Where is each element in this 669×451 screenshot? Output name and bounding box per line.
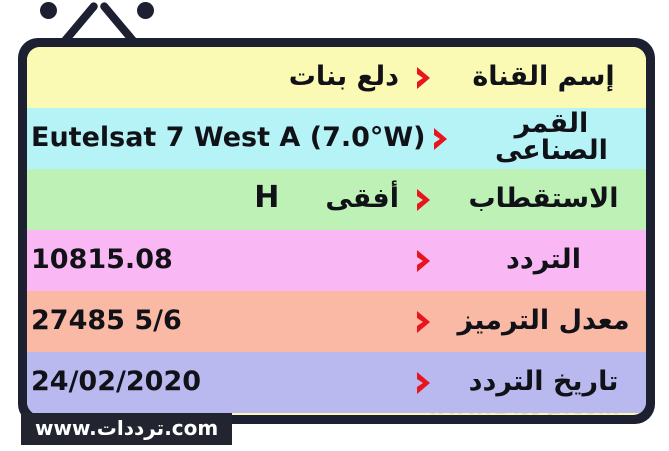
row-frequency-date: تاريخ التردد 24/02/2020 bbox=[27, 352, 646, 413]
channel-info-card-body: www.ترددات.com www.ترددات.com إسم القناة… bbox=[27, 47, 646, 415]
row-value-frequency-date: 24/02/2020 bbox=[27, 368, 407, 398]
row-polarization: الاستقطاب أفقىH bbox=[27, 169, 646, 230]
row-symbol-rate: معدل الترميز 27485 5/6 bbox=[27, 291, 646, 352]
row-value-frequency: 10815.08 bbox=[27, 246, 407, 276]
row-value-satellite: Eutelsat 7 West A (7.0°W) bbox=[27, 124, 426, 154]
row-value-polarization-group: أفقىH bbox=[27, 183, 407, 216]
chevron-right-icon bbox=[407, 248, 441, 274]
channel-info-card: www.ترددات.com www.ترددات.com إسم القناة… bbox=[18, 38, 655, 424]
row-label-symbol-rate: معدل الترميز bbox=[441, 307, 646, 337]
row-satellite: القمر الصناعى Eutelsat 7 West A (7.0°W) bbox=[27, 108, 646, 169]
chevron-right-icon bbox=[407, 370, 441, 396]
row-label-polarization: الاستقطاب bbox=[441, 185, 646, 215]
row-value-polarization-letter: H bbox=[254, 183, 279, 213]
row-frequency: التردد 10815.08 bbox=[27, 230, 646, 291]
row-value-polarization: أفقى bbox=[325, 183, 399, 214]
chevron-right-icon bbox=[426, 126, 457, 152]
site-watermark-chip: www.ترددات.com bbox=[21, 413, 232, 445]
chevron-right-icon bbox=[407, 65, 441, 91]
row-label-frequency-date: تاريخ التردد bbox=[441, 368, 646, 398]
row-label-frequency: التردد bbox=[441, 246, 646, 276]
row-value-symbol-rate: 27485 5/6 bbox=[27, 307, 407, 337]
screenshot-root: www.ترددات.com www.ترددات.com إسم القناة… bbox=[0, 0, 669, 451]
chevron-right-icon bbox=[407, 309, 441, 335]
row-label-satellite: القمر الصناعى bbox=[457, 110, 646, 167]
chevron-right-icon bbox=[407, 187, 441, 213]
antenna-knob-right bbox=[137, 2, 154, 19]
row-value-channel-name: دلع بنات bbox=[27, 63, 407, 93]
antenna-knob-left bbox=[40, 2, 57, 19]
row-channel-name: إسم القناة دلع بنات bbox=[27, 47, 646, 108]
row-label-channel-name: إسم القناة bbox=[441, 63, 646, 93]
info-rows: إسم القناة دلع بنات القمر الصناعى Eutels… bbox=[27, 47, 646, 415]
